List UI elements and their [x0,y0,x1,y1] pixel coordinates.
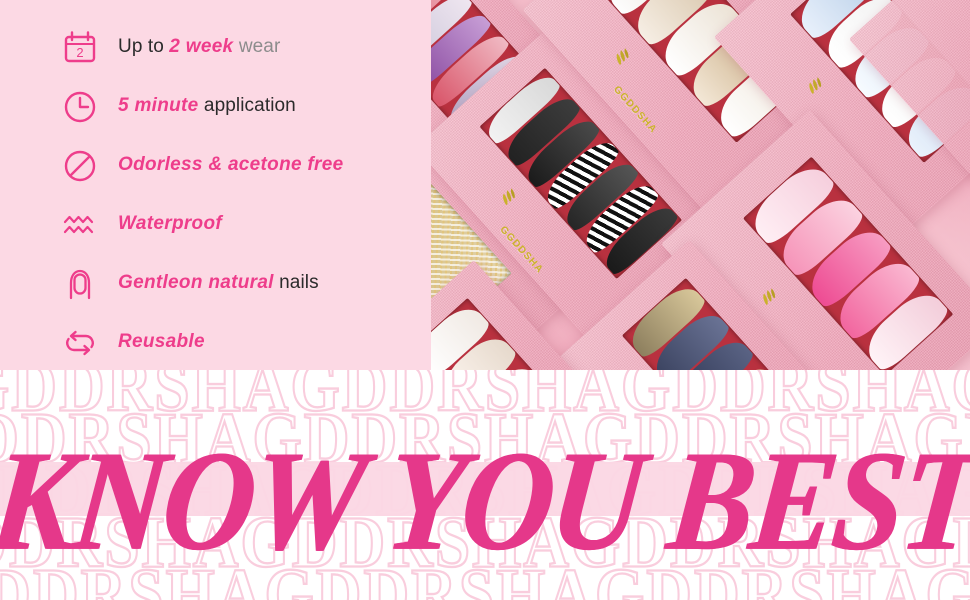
features-panel: 2 Up to 2 week wear [0,0,431,370]
feature-list: 2 Up to 2 week wear [0,18,431,372]
svg-text:2: 2 [76,45,83,60]
feature-text: Waterproof [118,214,222,235]
bottom-section: GDDRSHAGDDRSHAGDDRSHAGDDRSHAGDDRSHAGDDRS… [0,370,970,600]
feature-text: Odorless & acetone free [118,155,343,176]
feature-text-pre: Up to [118,36,169,57]
promo-banner: 2 Up to 2 week wear [0,0,970,600]
feature-text-accent: Reusable [118,331,205,352]
feature-text-post: wear [233,36,280,57]
no-entry-icon [60,144,104,188]
pattern-highlight-band [0,462,970,516]
feature-text-post: application [199,95,296,116]
feature-text: 5 minute application [118,96,296,117]
feature-text: Gentleon natural nails [118,273,319,294]
brand-leaf-icon [802,74,826,98]
feature-item-odorless: Odorless & acetone free [0,136,431,195]
feature-text: Up to 2 week wear [118,37,280,58]
brand-leaf-icon [609,45,633,69]
reuse-loop-icon [60,321,104,365]
feature-item-reusable: Reusable [0,313,431,372]
brand-leaf-icon [756,285,780,309]
feature-text-post: nails [274,272,319,293]
waves-icon [60,203,104,247]
top-section: 2 Up to 2 week wear [0,0,970,370]
feature-item-waterproof: Waterproof [0,195,431,254]
product-photo: GGDDSHA GGDDSHA [431,0,970,370]
feature-text-accent: Odorless & acetone free [118,154,343,175]
feature-item-gentle: Gentleon natural nails [0,254,431,313]
nail-icon [60,262,104,306]
feature-text-accent: Gentleon natural [118,272,274,293]
feature-text-accent: 5 minute [118,95,199,116]
calendar-2-icon: 2 [60,26,104,70]
pattern-row: GDDRSHAGDDRSHAGDDRSHAGDDRSHAGDDRSHAGDDRS… [0,564,970,600]
feature-text: Reusable [118,332,205,353]
feature-text-accent: 2 week [169,36,233,57]
feature-item-wear: 2 Up to 2 week wear [0,18,431,77]
brand-leaf-icon [496,185,520,209]
feature-text-accent: Waterproof [118,213,222,234]
clock-icon [60,85,104,129]
feature-item-application: 5 minute application [0,77,431,136]
